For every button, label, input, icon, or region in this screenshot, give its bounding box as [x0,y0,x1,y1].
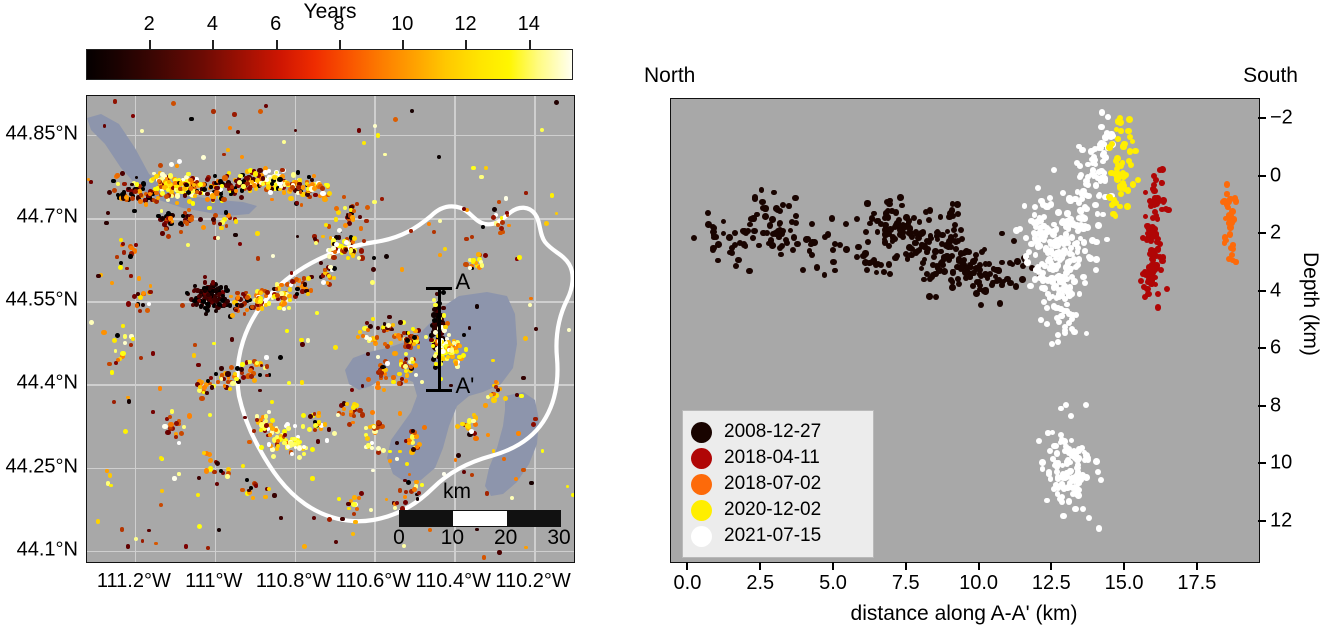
map-earthquake-point [371,469,374,472]
map-earthquake-point [174,421,179,426]
map-earthquake-point [300,342,305,347]
depth-tick [1258,290,1266,292]
cross-section-point [855,244,861,250]
map-earthquake-point [179,431,184,436]
map-earthquake-point [168,415,172,419]
cross-section-point [1046,256,1053,263]
colorbar-tick [276,40,278,49]
map-earthquake-point [205,197,210,202]
legend-item-label: 2020-12-02 [724,499,821,521]
cross-section-point [893,209,899,215]
map-earthquake-point [475,304,480,309]
cross-section-legend: 2008-12-272018-04-112018-07-022020-12-02… [682,410,874,558]
cross-section-point [808,242,814,248]
map-earthquake-point [454,346,458,350]
cross-section-point [1045,277,1052,284]
cross-section-point [1104,237,1110,243]
map-earthquake-point [366,352,370,356]
map-earthquake-point [258,109,263,114]
cross-section-point [1093,267,1099,273]
colorbar-tick-label: 4 [207,13,218,36]
map-earthquake-point [232,112,237,117]
map-earthquake-point [122,250,126,254]
map-earthquake-point [212,297,217,302]
map-earthquake-point [216,236,220,240]
map-earthquake-point [127,399,132,404]
map-earthquake-point [172,476,176,480]
map-earthquake-point [498,231,503,236]
map-earthquake-point [277,177,282,182]
map-earthquake-point [112,400,116,404]
map-earthquake-point [185,291,189,295]
cross-section-point [1122,141,1128,147]
map-earthquake-point [397,372,401,376]
cross-section-point [1027,283,1034,290]
cross-section-point [1159,207,1164,212]
cross-section-point [1115,136,1121,142]
map-earthquake-point [359,226,364,231]
legend-item[interactable]: 2018-04-11 [691,445,863,471]
cross-section-point [881,269,887,275]
cross-section-point [1068,413,1074,419]
depth-tick [1258,232,1266,234]
cross-section-point [771,190,777,196]
map-earthquake-point [494,385,498,389]
map-earthquake-point [290,452,294,456]
cross-section-point [900,234,906,240]
map-earthquake-point [122,182,126,186]
legend-item[interactable]: 2021-07-15 [691,523,863,549]
distance-tick [1196,562,1198,570]
map-earthquake-point [516,431,521,436]
cross-section-point [1132,148,1138,154]
map-earthquake-point [255,418,259,422]
map-earthquake-point [442,472,446,476]
cross-section-point [959,236,965,242]
map-earthquake-point [222,303,226,307]
legend-item-label: 2008-12-27 [724,421,821,443]
cross-section-point [1086,515,1092,521]
map-earthquake-point [350,215,355,220]
cross-section-point [721,219,726,224]
cross-section-point [1118,128,1123,133]
cross-section-point [751,228,757,234]
cross-section-point [1076,215,1082,221]
cross-section-point [1226,198,1232,204]
map-earthquake-point [317,411,321,415]
cross-section-point [1112,197,1117,202]
cross-section-label-a: A [455,269,470,295]
cross-section-point [729,250,735,256]
map-earthquake-point [261,176,266,181]
cross-section-point [854,254,860,260]
map-earthquake-point [375,335,380,340]
cross-section-point [822,272,828,278]
cross-section-point [1057,277,1063,283]
cross-section-point [938,249,943,254]
map-earthquake-point [107,362,111,366]
map-earthquake-point [301,424,305,428]
cross-section-point [947,210,954,217]
map-earthquake-point [422,425,427,430]
map-earthquake-point [270,426,275,431]
map-earthquake-point [471,166,476,171]
map-earthquake-point [380,197,384,201]
map-earthquake-point [267,410,271,414]
map-earthquake-point [297,446,302,451]
map-earthquake-point [484,166,488,170]
legend-swatch-icon [691,474,712,495]
distance-tick [832,562,834,570]
cross-section-point [1063,402,1069,408]
map-earthquake-point [403,500,408,505]
map-earthquake-point [157,179,161,183]
depth-tick-label: 2 [1270,222,1281,245]
cross-section-point [1063,276,1070,283]
map-earthquake-point [412,335,417,340]
map-earthquake-point [154,542,158,546]
map-earthquake-point [492,449,496,453]
legend-item[interactable]: 2008-12-27 [691,419,863,445]
map-earthquake-point [192,353,196,357]
cross-section-point [1056,319,1062,325]
cross-section-point [1082,248,1088,254]
cross-section-point [970,270,977,277]
cross-section-point [1089,237,1096,244]
map-earthquake-point [167,180,171,184]
map-earthquake-point [398,411,402,415]
depth-tick [1258,347,1266,349]
map-earthquake-point [224,285,228,289]
map-earthquake-point [144,202,148,206]
distance-tick [686,562,688,570]
cross-section-point [807,248,813,254]
map-earthquake-point [270,198,273,201]
map-earthquake-point [230,381,235,386]
cross-section-point [767,222,773,228]
map-earthquake-point [256,256,260,260]
map-earthquake-point [175,193,180,198]
map-earthquake-point [268,190,273,195]
map-earthquake-point [491,397,496,402]
distance-tick-label: 12.5 [1032,572,1071,595]
cross-section-point [917,219,923,225]
map-earthquake-point [301,413,306,418]
map-earthquake-point [188,178,192,182]
cross-section-point [1036,438,1042,444]
cross-section-point [886,261,893,268]
cross-section-point [982,288,989,295]
cross-section-point [1071,329,1077,335]
map-earthquake-point [393,117,398,122]
cross-section-point [792,195,798,201]
map-earthquake-point [230,313,235,318]
map-earthquake-point [411,429,415,433]
cross-section-point [1095,222,1102,229]
map-earthquake-point [120,351,125,356]
map-earthquake-point [352,209,356,213]
map-earthquake-point [299,338,303,342]
cross-section-point [832,268,837,273]
cross-section-label-aprime: A' [455,373,474,399]
cross-section-point [919,266,925,272]
map-panel: A A' km 0102030 [86,95,575,563]
map-earthquake-point [145,308,150,313]
map-earthquake-point [115,173,119,177]
cross-section-point [1230,246,1236,252]
cross-section-point [745,228,751,234]
map-earthquake-point [272,175,277,180]
map-longitude-label: 111°W [185,570,242,593]
map-earthquake-point [302,276,307,281]
cross-section-point [1048,476,1054,482]
map-earthquake-point [355,507,359,511]
distance-tick-label: 10.0 [959,572,998,595]
map-earthquake-point [352,414,356,418]
map-latitude-label: 44.25°N [0,455,78,478]
cross-section-point [1227,232,1233,238]
map-earthquake-point [115,255,119,259]
colorbar-tick-label: 12 [454,13,476,36]
distance-tick-label: 17.5 [1177,572,1216,595]
map-earthquake-point [219,469,223,473]
map-earthquake-point [529,481,533,485]
map-earthquake-point [129,246,133,250]
map-earthquake-point [282,307,286,311]
map-earthquake-point [134,537,138,541]
map-latitude-label: 44.85°N [0,122,78,145]
cross-section-point [1224,181,1231,188]
cross-section-point [711,225,717,231]
cross-section-point [1050,430,1056,436]
cross-section-point [1152,209,1158,215]
cross-section-point [1081,215,1088,222]
cross-section-point [875,229,880,234]
cross-section-point [791,234,797,240]
map-earthquake-point [141,539,144,542]
map-earthquake-point [221,197,226,202]
map-earthquake-point [270,447,274,451]
map-earthquake-point [391,380,396,385]
cross-section-point [941,268,948,275]
cross-section-point [1039,261,1045,267]
cross-section-point [899,203,905,209]
map-earthquake-point [288,196,293,201]
legend-swatch-icon [691,448,712,469]
cross-section-point [887,271,893,277]
legend-item[interactable]: 2020-12-02 [691,497,863,523]
distance-tick [759,562,761,570]
map-latitude-label: 44.1°N [0,538,78,561]
map-earthquake-point [381,448,386,453]
cross-section-point [864,267,870,273]
map-earthquake-point [135,303,140,308]
map-earthquake-point [279,292,284,297]
map-earthquake-point [219,226,224,231]
map-earthquake-point [384,376,388,380]
legend-item[interactable]: 2018-07-02 [691,471,863,497]
cross-section-point [1041,285,1048,292]
cross-section-point [1069,438,1075,444]
depth-tick [1258,405,1266,407]
map-earthquake-point [337,228,342,233]
map-earthquake-point [278,355,283,360]
map-earthquake-point [148,290,152,294]
cross-section-point [809,221,815,227]
map-earthquake-point [124,195,129,200]
map-earthquake-point [245,361,249,365]
distance-tick-label: 5.0 [819,572,847,595]
cross-section-point [1155,291,1161,297]
cross-section-point [923,209,929,215]
map-earthquake-point [275,293,280,298]
map-earthquake-point [128,254,133,259]
cross-section-point [829,215,836,222]
map-earthquake-point [437,155,441,159]
map-earthquake-point [441,290,446,295]
map-earthquake-point [288,298,292,302]
cross-section-point [991,266,996,271]
cross-section-point [926,217,933,224]
distance-tick-label: 0.0 [674,572,702,595]
map-earthquake-point [89,320,94,325]
cross-section-point [1233,259,1239,265]
map-earthquake-point [203,280,208,285]
cross-section-point [1164,286,1170,292]
map-earthquake-point [188,217,193,222]
cross-section-point [1233,198,1240,205]
map-earthquake-point [433,330,438,335]
map-earthquake-point [180,303,185,308]
map-earthquake-point [230,337,234,341]
map-earthquake-point [482,555,487,560]
cross-section-point [691,235,697,241]
colorbar: 2468101214 [86,49,573,80]
map-earthquake-point [222,175,227,180]
map-earthquake-point [212,470,216,474]
map-earthquake-point [384,254,389,259]
map-earthquake-point [162,424,167,429]
map-earthquake-point [458,344,462,348]
map-earthquake-point [473,436,478,441]
map-earthquake-point [264,355,268,359]
map-earthquake-point [204,468,209,473]
cross-section-point [1075,189,1080,194]
cross-section-point [1055,339,1061,345]
cross-section-point [1061,308,1068,315]
map-earthquake-point [116,193,120,197]
map-earthquake-point [247,360,252,365]
map-earthquake-point [332,276,336,280]
map-earthquake-point [360,412,365,417]
map-longitude-label: 111.2°W [97,570,171,593]
map-earthquake-point [414,480,418,484]
cross-section-point [1117,119,1124,126]
map-earthquake-point [312,186,317,191]
map-earthquake-point [521,468,525,472]
cross-section-point [1155,304,1161,310]
map-earthquake-point [497,200,501,204]
cross-section-point [1039,235,1045,241]
cross-section-point [1040,466,1046,472]
cross-section-point [1095,469,1101,475]
cross-section-point [1074,485,1080,491]
colorbar-tick [212,40,214,49]
map-earthquake-point [464,347,468,351]
colorbar-tick [465,40,467,49]
map-earthquake-point [355,202,359,206]
map-earthquake-point [531,422,536,427]
map-earthquake-point [120,171,125,176]
distance-tick-label: 2.5 [746,572,774,595]
map-earthquake-point [400,267,404,271]
map-earthquake-point [412,342,416,346]
cross-section-point [929,274,935,280]
cross-section-point [843,246,849,252]
cross-section-point [864,200,870,206]
cross-section-point [1142,294,1148,300]
map-earthquake-point [359,248,364,253]
map-earthquake-point [234,189,238,193]
map-earthquake-point [432,298,436,302]
map-earthquake-point [191,201,195,205]
cross-section-point [1074,222,1080,228]
map-earthquake-point [234,219,238,223]
cross-section-point [1023,235,1029,241]
map-earthquake-point [120,527,124,531]
cross-section-point [1045,204,1051,210]
map-earthquake-point [398,337,402,341]
map-earthquake-point [258,389,262,393]
cross-section-point [1035,220,1040,225]
map-earthquake-point [306,292,310,296]
cross-section-point [1143,214,1149,220]
cross-section-point [966,249,972,255]
map-earthquake-point [406,480,411,485]
map-earthquake-point [265,374,269,378]
cross-section-point [1069,452,1076,459]
map-earthquake-point [215,461,220,466]
map-earthquake-point [141,303,145,307]
map-earthquake-point [177,472,181,476]
map-earthquake-point [126,544,131,549]
map-earthquake-point [431,312,436,317]
map-earthquake-point [507,224,511,228]
cross-section-point [949,284,956,291]
map-earthquake-point [177,441,181,445]
south-label: South [1243,64,1298,88]
map-earthquake-point [373,124,377,128]
colorbar-title: Years [304,0,357,24]
depth-axis-title: Depth (km) [1298,252,1322,356]
map-earthquake-point [372,256,376,260]
cross-section-point [1085,162,1091,168]
legend-swatch-icon [691,422,712,443]
cross-section-point [1106,144,1113,151]
cross-section-point [1080,506,1086,512]
map-earthquake-point [169,162,174,167]
cross-section-point [918,230,924,236]
map-earthquake-point [272,493,276,497]
map-earthquake-point [344,248,348,252]
cross-section-point [769,242,776,249]
map-earthquake-point [395,457,399,461]
map-earthquake-point [109,484,113,488]
cross-section-point [1227,224,1234,231]
map-earthquake-point [243,312,247,316]
scalebar-label: 30 [547,526,570,550]
map-earthquake-point [320,186,325,191]
